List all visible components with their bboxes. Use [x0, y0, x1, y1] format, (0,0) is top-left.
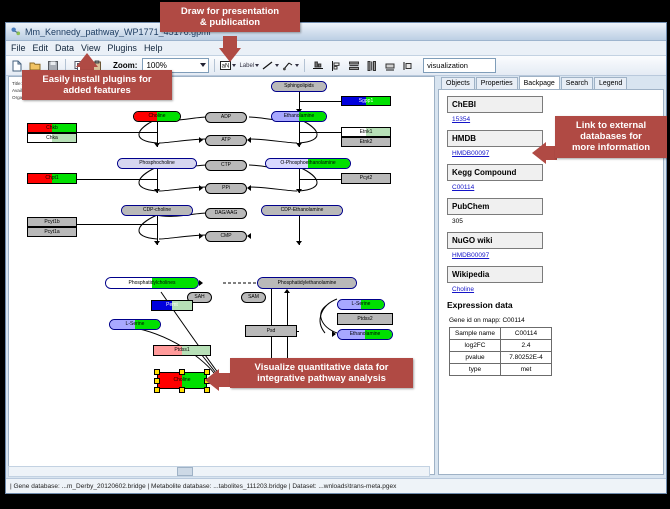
- expr-key-type: type: [450, 364, 501, 376]
- node-l-serine-left[interactable]: L-Serine: [109, 319, 161, 330]
- callout-visualize-arrow: [205, 369, 219, 391]
- zoom-label: Zoom:: [113, 61, 137, 70]
- menu-data[interactable]: Data: [55, 43, 74, 53]
- callout-draw: Draw for presentation & publication: [160, 2, 300, 32]
- align-left-icon[interactable]: [328, 58, 343, 73]
- node-o-phosphoethanolamine[interactable]: O-Phosphoethanolamine: [265, 158, 351, 169]
- align-top-icon[interactable]: [310, 58, 325, 73]
- node-ptdss2[interactable]: Ptdss2: [337, 313, 393, 325]
- toolbar-separator: [304, 59, 305, 72]
- tab-backpage[interactable]: Backpage: [519, 76, 560, 89]
- edge-sgpp1-link: [299, 101, 341, 102]
- node-pemt[interactable]: Pemt: [151, 300, 193, 311]
- distribute-vertical-icon[interactable]: [346, 58, 361, 73]
- svg-text:aN: aN: [222, 63, 230, 69]
- table-row: log2FC 2.4: [450, 340, 552, 352]
- node-cmp[interactable]: CMP: [205, 231, 247, 242]
- db-header-hmdb: HMDB: [447, 130, 543, 147]
- pathvisio-icon: [10, 26, 21, 37]
- status-text: | Gene database: ...m_Derby_20120602.bri…: [6, 483, 396, 490]
- menu-file[interactable]: File: [11, 43, 26, 53]
- node-sgpp1[interactable]: Sgpp1: [341, 96, 391, 106]
- db-value-pubchem: 305: [452, 218, 663, 225]
- db-link-kegg[interactable]: C00114: [452, 184, 663, 191]
- expression-data-heading: Expression data: [447, 300, 663, 310]
- callout-visualize-line2: integrative pathway analysis: [237, 373, 406, 384]
- db-header-pubchem: PubChem: [447, 198, 543, 215]
- table-row: Sample name C00114: [450, 328, 552, 340]
- node-sam[interactable]: SAM: [241, 292, 266, 303]
- arrowhead-icon: [199, 233, 203, 239]
- selection-handle[interactable]: [154, 378, 160, 384]
- node-ctp[interactable]: CTP: [205, 160, 247, 171]
- table-row: type met: [450, 364, 552, 376]
- node-l-serine-right[interactable]: L-Serine: [337, 299, 385, 310]
- arrowhead-icon: [199, 185, 203, 191]
- tab-legend[interactable]: Legend: [594, 77, 627, 89]
- menu-help[interactable]: Help: [144, 43, 163, 53]
- anchor-tool[interactable]: [282, 60, 299, 71]
- visualization-value: visualization: [427, 61, 468, 70]
- arrowhead-icon: [199, 137, 203, 143]
- expr-val-pvalue: 7.80252E-4: [501, 352, 552, 364]
- edge-chpt1-link: [65, 179, 157, 180]
- chevron-down-icon[interactable]: [232, 64, 236, 67]
- selection-handle[interactable]: [179, 387, 185, 393]
- node-ethanolamine-top[interactable]: Ethanolamine: [271, 111, 327, 122]
- status-bar: | Gene database: ...m_Derby_20120602.bri…: [6, 478, 666, 493]
- node-sphingolipids[interactable]: Sphingolipids: [271, 81, 327, 92]
- node-ppi[interactable]: PPi: [205, 183, 247, 194]
- arrowhead-icon: [154, 189, 160, 193]
- callout-visualize-line1: Visualize quantitative data for: [237, 362, 406, 373]
- tab-objects[interactable]: Objects: [441, 77, 475, 89]
- side-tab-row: Objects Properties Backpage Search Legen…: [438, 76, 664, 89]
- node-etnk1[interactable]: Etnk1: [341, 127, 391, 137]
- arrowhead-icon: [332, 331, 336, 337]
- distribute-horizontal-icon[interactable]: [364, 58, 379, 73]
- arrowhead-icon: [296, 143, 302, 147]
- label-tool-caption: Label: [239, 63, 254, 69]
- callout-draw-line2: & publication: [167, 17, 293, 28]
- selection-handle[interactable]: [154, 387, 160, 393]
- callout-plugins: Easily install plugins for added feature…: [22, 70, 172, 100]
- expr-val-sample: C00114: [501, 328, 552, 340]
- arrowhead-icon: [199, 280, 203, 286]
- expr-key-sample: Sample name: [450, 328, 501, 340]
- db-header-nugo: NuGO wiki: [447, 232, 543, 249]
- canvas-hscrollbar[interactable]: [8, 466, 430, 477]
- edge-chk-link: [65, 132, 157, 133]
- chevron-down-icon[interactable]: [295, 64, 299, 67]
- node-chka[interactable]: Chka: [27, 133, 77, 143]
- db-header-chebi: ChEBI: [447, 96, 543, 113]
- node-ptdss1[interactable]: Ptdss1: [153, 345, 211, 356]
- db-link-nugo[interactable]: HMDB00097: [452, 252, 663, 259]
- tab-search[interactable]: Search: [561, 77, 593, 89]
- edge-etnk-link: [299, 132, 341, 133]
- canvas-meta-title: Title:: [12, 81, 22, 86]
- node-chpt1[interactable]: Chpt1: [27, 173, 77, 184]
- scrollbar-thumb[interactable]: [177, 467, 193, 476]
- node-chkb[interactable]: Chkb: [27, 123, 77, 133]
- size-equal-icon[interactable]: [382, 58, 397, 73]
- callout-links-arrow: [532, 142, 546, 164]
- chevron-down-icon[interactable]: [255, 64, 259, 67]
- node-pcyt1a[interactable]: Pcyt1a: [27, 227, 77, 237]
- expression-table: Sample name C00114 log2FC 2.4 pvalue 7.8…: [449, 327, 552, 376]
- menu-bar: File Edit Data View Plugins Help: [6, 41, 666, 56]
- expr-key-pvalue: pvalue: [450, 352, 501, 364]
- arrowhead-icon: [296, 189, 302, 193]
- toolbar-separator: [214, 59, 215, 72]
- db-header-kegg: Kegg Compound: [447, 164, 543, 181]
- arrowhead-icon: [284, 289, 290, 293]
- callout-draw-arrow: [219, 48, 241, 62]
- callout-plugins-arrow: [76, 53, 98, 67]
- visualization-select[interactable]: visualization: [423, 58, 496, 73]
- selection-handle[interactable]: [179, 369, 185, 375]
- tab-properties[interactable]: Properties: [476, 77, 518, 89]
- callout-links: Link to external databases for more info…: [555, 116, 667, 158]
- menu-edit[interactable]: Edit: [33, 43, 49, 53]
- selection-handle[interactable]: [154, 369, 160, 375]
- size-width-icon[interactable]: [400, 58, 415, 73]
- gene-id-on-mapp: Gene id on mapp: C00114: [449, 317, 663, 324]
- zoom-value: 100%: [146, 61, 166, 70]
- expr-key-log2fc: log2FC: [450, 340, 501, 352]
- callout-links-line3: more information: [562, 142, 660, 153]
- node-atp[interactable]: ATP: [205, 135, 247, 146]
- node-dag-aag[interactable]: DAG/AAG: [205, 208, 247, 219]
- node-etnk2[interactable]: Etnk2: [341, 137, 391, 147]
- screen-root: Mm_Kennedy_pathway_WP1771_45176.gpml Fil…: [0, 0, 670, 509]
- node-phosphatidylethanolamine[interactable]: Phosphatidylethanolamine: [257, 277, 357, 289]
- expr-val-log2fc: 2.4: [501, 340, 552, 352]
- label-tool[interactable]: Label: [239, 63, 259, 69]
- callout-plugins-line1: Easily install plugins for: [29, 74, 165, 85]
- callout-links-line1: Link to external: [562, 120, 660, 131]
- table-row: pvalue 7.80252E-4: [450, 352, 552, 364]
- callout-plugins-line2: added features: [29, 85, 165, 96]
- pathway-canvas[interactable]: Title: Availa Organ: [8, 76, 435, 475]
- arrowhead-icon: [296, 241, 302, 245]
- arrowhead-icon: [154, 143, 160, 147]
- node-psd[interactable]: Psd: [245, 325, 297, 337]
- arrowhead-icon: [247, 137, 251, 143]
- menu-plugins[interactable]: Plugins: [107, 43, 137, 53]
- chevron-down-icon[interactable]: [275, 64, 279, 67]
- node-cdp-ethanolamine[interactable]: CDP-Ethanolamine: [261, 205, 343, 216]
- node-pcyt1b[interactable]: Pcyt1b: [27, 217, 77, 227]
- callout-visualize: Visualize quantitative data for integrat…: [230, 358, 413, 388]
- line-tool[interactable]: [262, 60, 279, 71]
- edge-pcyt1-link: [65, 224, 157, 225]
- db-header-wikipedia: Wikipedia: [447, 266, 543, 283]
- expr-val-type: met: [501, 364, 552, 376]
- db-link-wikipedia[interactable]: Choline: [452, 286, 663, 293]
- arrowhead-icon: [154, 241, 160, 245]
- node-phosphocholine[interactable]: Phosphocholine: [117, 158, 197, 169]
- node-phosphatidylcholines[interactable]: Phosphatidylcholines: [105, 277, 199, 289]
- node-cdp-choline[interactable]: CDP-choline: [121, 205, 193, 216]
- title-bar: Mm_Kennedy_pathway_WP1771_45176.gpml: [6, 23, 666, 41]
- callout-links-line2: databases for: [562, 131, 660, 142]
- callout-draw-line1: Draw for presentation: [167, 6, 293, 17]
- node-choline-top[interactable]: Choline: [133, 111, 181, 122]
- arrowhead-icon: [247, 233, 251, 239]
- node-ethanolamine-bottom[interactable]: Ethanolamine: [337, 329, 393, 340]
- arrowhead-icon: [247, 185, 251, 191]
- node-adp[interactable]: ADP: [205, 112, 247, 123]
- chevron-down-icon[interactable]: [200, 63, 206, 67]
- edge-pcyt2-link: [299, 179, 341, 180]
- node-pcyt2[interactable]: Pcyt2: [341, 173, 391, 184]
- menu-view[interactable]: View: [81, 43, 100, 53]
